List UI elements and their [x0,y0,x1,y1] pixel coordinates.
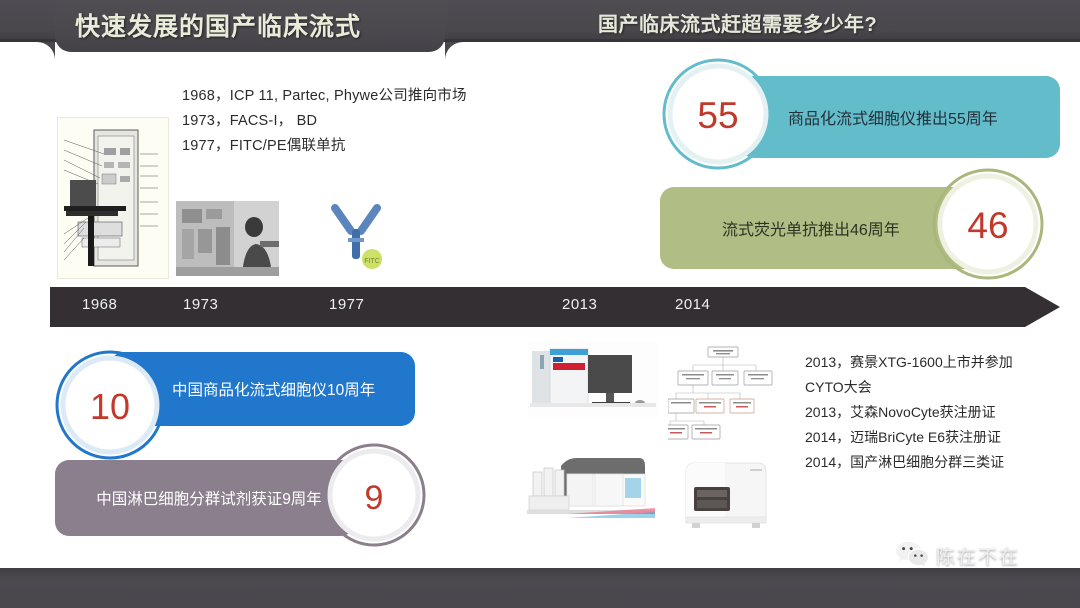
milestone-circle-9: 9 [322,443,426,547]
antibody-fitc-icon: FITC [325,198,387,276]
left-notes-list: 1968，ICP 11, Partec, Phywe公司推向市场 1973，FA… [182,84,602,159]
watermark: 陈在不在 [895,540,1020,570]
page-title: 快速发展的国产临床流式 [75,7,435,43]
timeline-year-1973: 1973 [183,296,218,313]
timeline-year-2013: 2013 [562,296,597,313]
timeline-arrow-head [1025,287,1060,327]
right-note-5: 2014，国产淋巴细胞分群三类证 [805,450,1075,475]
old-flow-cytometer-diagram [57,117,169,279]
milestone-circle-10: 10 [55,350,165,460]
right-note-2: CYTO大会 [805,375,1075,400]
right-notes-list: 2013，赛景XTG-1600上市并参加 CYTO大会 2013，艾森NovoC… [805,350,1075,475]
milestone-number-46: 46 [967,205,1008,246]
milestone-text-55: 商品化流式细胞仪推出55周年 [788,105,998,129]
bottom-bar [0,568,1080,608]
header-question: 国产临床流式赶超需要多少年? [598,8,877,37]
timeline-year-1977: 1977 [329,296,364,313]
right-note-4: 2014，迈瑞BriCyte E6获注册证 [805,425,1075,450]
milestone-number-55: 55 [697,95,738,136]
milestone-circle-55: 55 [662,58,774,170]
right-note-1: 2013，赛景XTG-1600上市并参加 [805,350,1075,375]
title-tab-notch-right [445,42,463,60]
milestone-text-9: 中国淋巴细胞分群试剂获证9周年 [63,487,355,509]
left-note-1: 1968，ICP 11, Partec, Phywe公司推向市场 [182,84,602,109]
wechat-icon [895,540,929,570]
operator-photo [176,201,279,276]
left-note-2: 1973，FACS-I， BD [182,109,602,134]
milestone-number-10: 10 [90,386,130,427]
timeline-year-1968: 1968 [82,296,117,313]
milestone-text-46: 流式荧光单抗推出46周年 [722,216,900,240]
svg-text:FITC: FITC [364,258,380,265]
title-tab: 快速发展的国产临床流式 [55,0,445,52]
watermark-text: 陈在不在 [936,542,1020,569]
timeline-year-2014: 2014 [675,296,710,313]
left-note-3: 1977，FITC/PE偶联单抗 [182,134,602,159]
instrument-with-monitor [528,341,658,417]
benchtop-analyzer-with-reagents [527,452,655,532]
flowchart-tree-diagram [668,345,778,443]
milestone-banner-55: 商品化流式细胞仪推出55周年 [740,76,1060,158]
title-tab-notch-left [37,42,55,60]
milestone-number-9: 9 [365,479,384,517]
timeline: 1968 1973 1977 2013 2014 [50,287,1060,327]
milestone-circle-46: 46 [932,168,1044,280]
white-benchtop-cytometer [672,453,782,535]
milestone-text-10: 中国商品化流式细胞仪10周年 [172,378,375,400]
milestone-banner-9: 中国淋巴细胞分群试剂获证9周年 [55,460,355,536]
right-note-3: 2013，艾森NovoCyte获注册证 [805,400,1075,425]
